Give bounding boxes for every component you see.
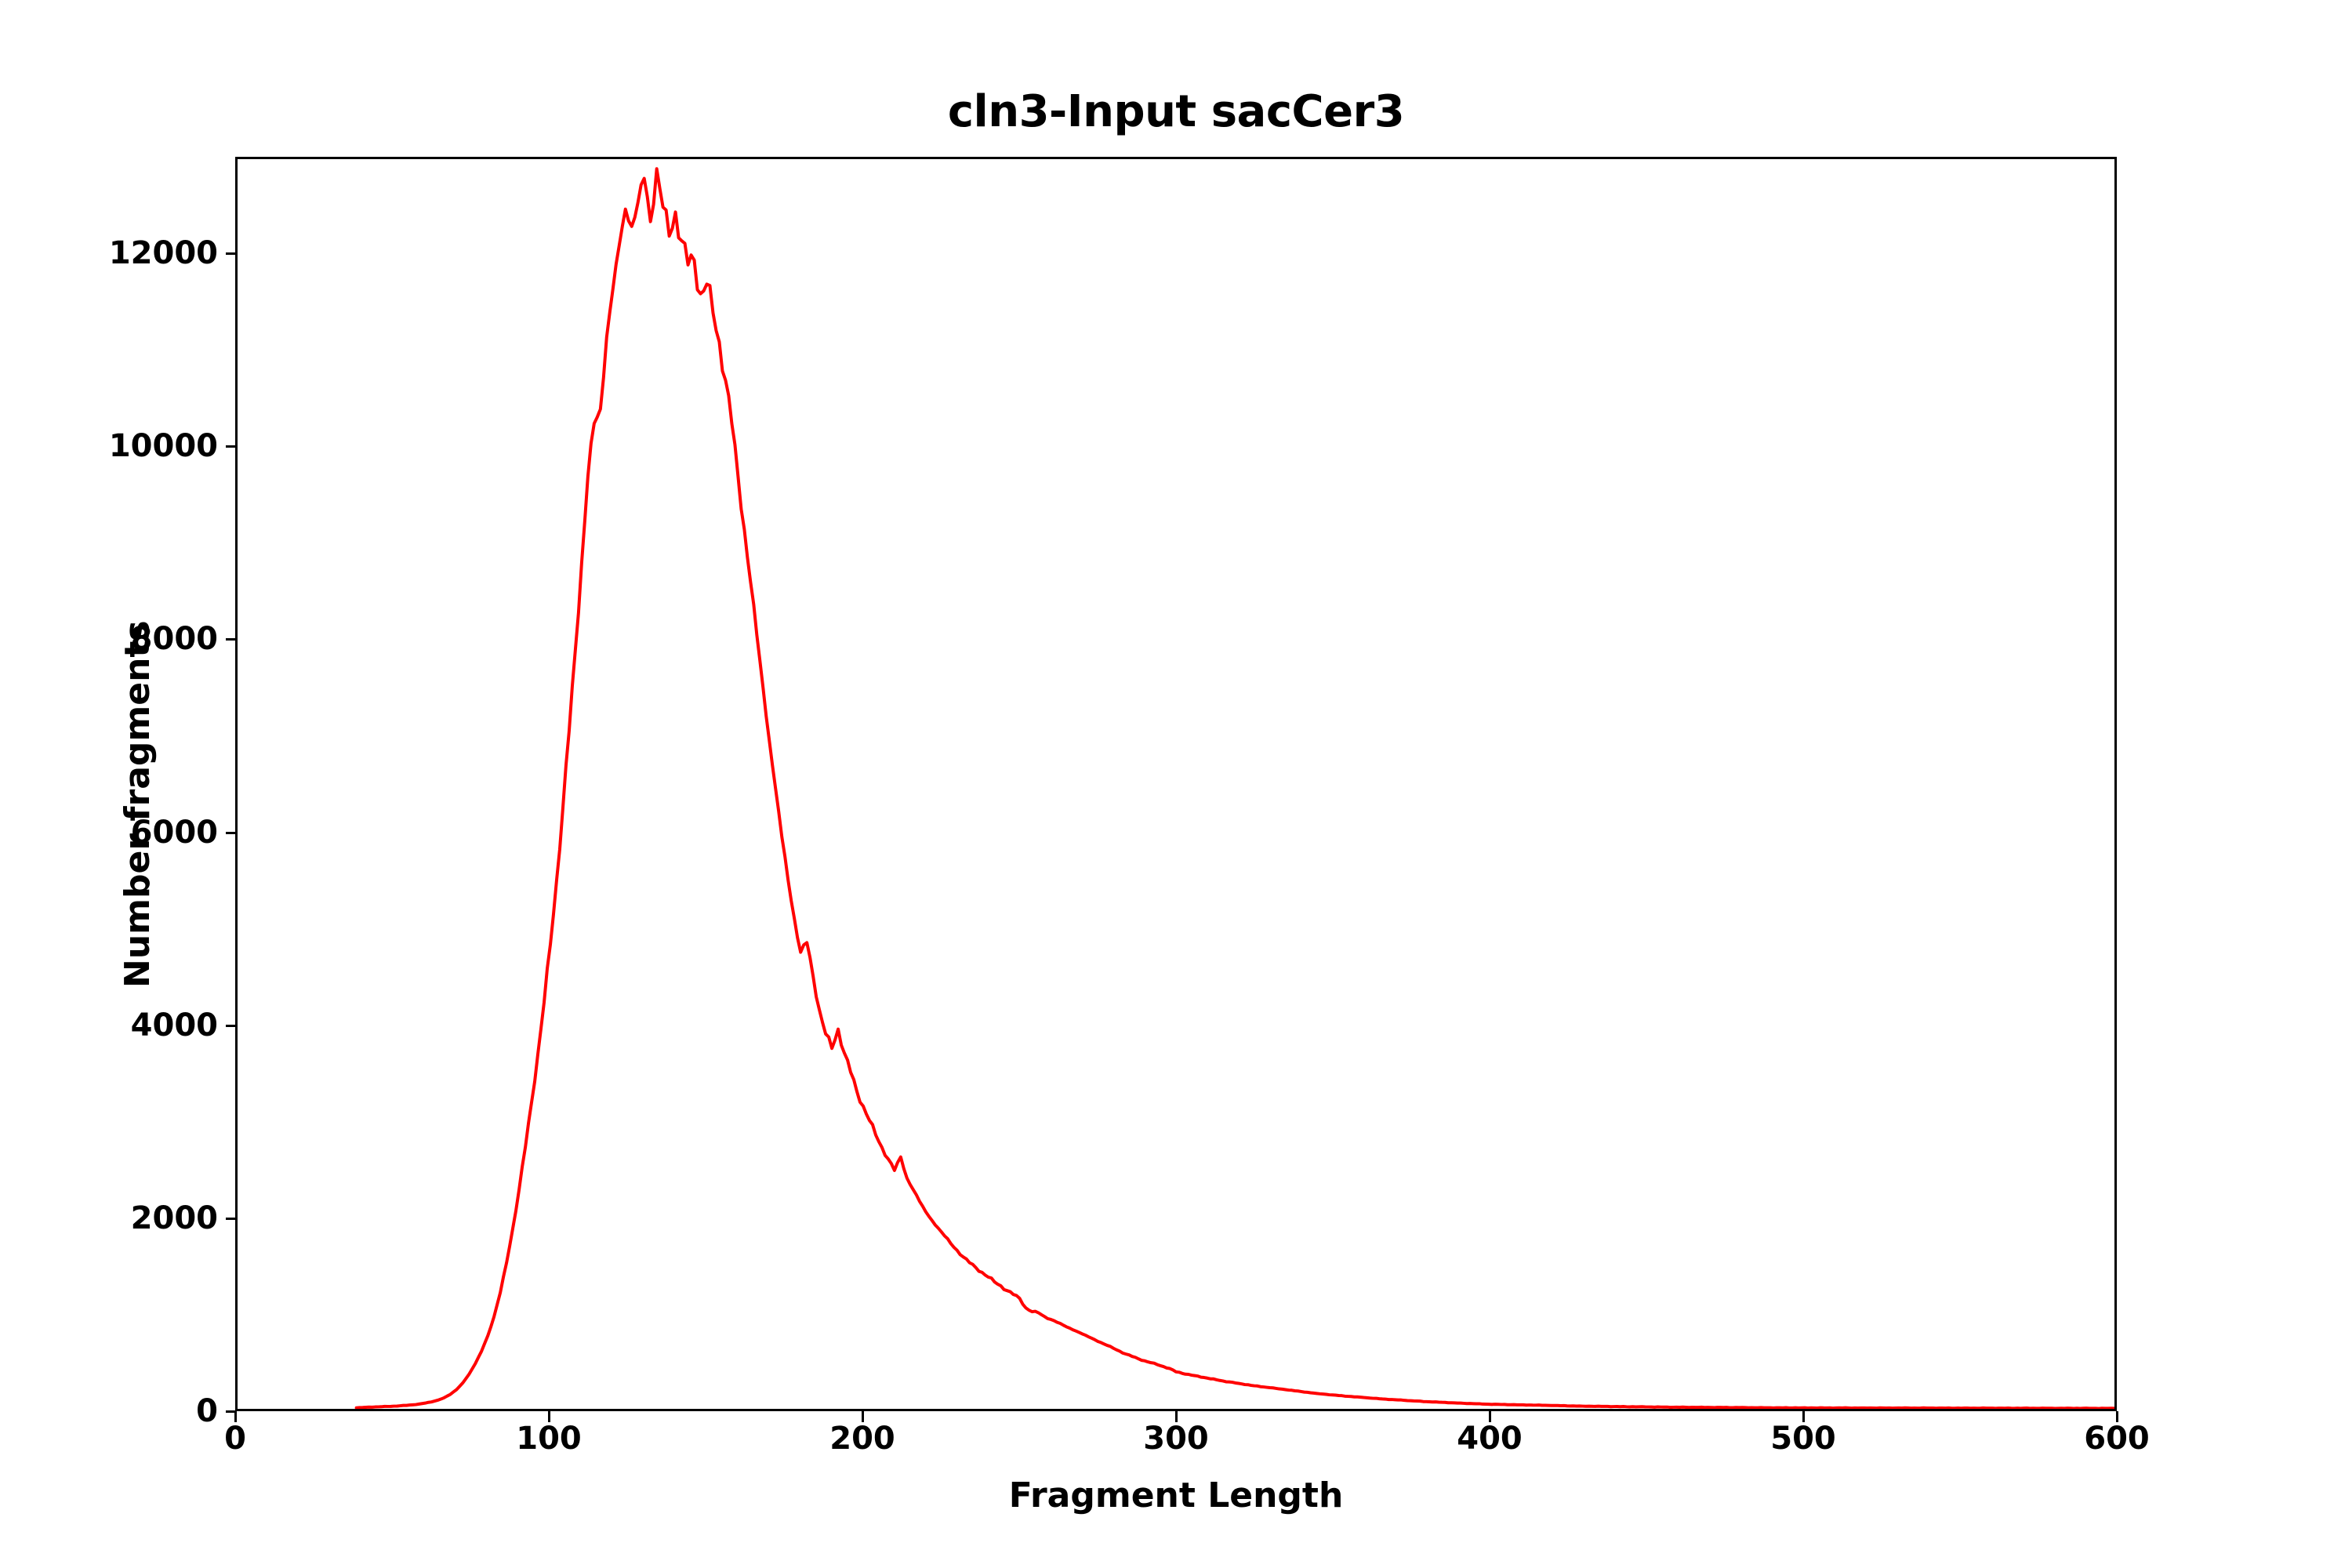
x-axis-tick-label: 400 xyxy=(1457,1421,1523,1457)
plot-area xyxy=(235,157,2117,1411)
y-axis-tick-label: 0 xyxy=(196,1393,218,1429)
y-axis-tick-label: 12000 xyxy=(109,235,218,271)
page-title: cln3-Input sacCer3 xyxy=(0,86,2352,137)
x-axis-label: Fragment Length xyxy=(235,1475,2117,1515)
data-series-line xyxy=(357,169,2114,1408)
x-axis-tick-label: 0 xyxy=(224,1421,246,1457)
y-axis-tick-label: 4000 xyxy=(131,1007,218,1044)
y-axis-tick-label-group: 020004000600080001000012000 xyxy=(0,157,218,1411)
chart-figure: cln3-Input sacCer3 Number fragments 0200… xyxy=(0,0,2352,1568)
x-axis-tick-label: 300 xyxy=(1143,1421,1209,1457)
y-axis-tick-label: 2000 xyxy=(131,1200,218,1236)
x-axis-tick-label: 500 xyxy=(1770,1421,1836,1457)
y-axis-tick-label: 10000 xyxy=(109,428,218,464)
x-axis-tick-label: 200 xyxy=(829,1421,895,1457)
x-axis-tick-label: 100 xyxy=(516,1421,582,1457)
y-axis-tick-label: 8000 xyxy=(131,621,218,657)
line-chart-svg xyxy=(238,159,2114,1409)
y-axis-tick-label: 6000 xyxy=(131,815,218,851)
x-axis-tick-label: 600 xyxy=(2084,1421,2150,1457)
